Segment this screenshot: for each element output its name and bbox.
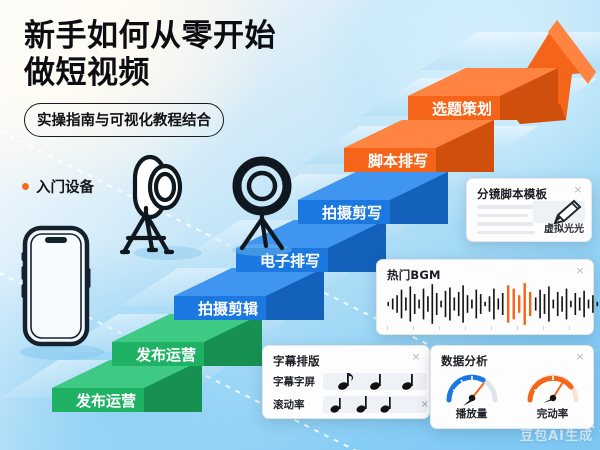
typography-row[interactable]: 字幕字屏 bbox=[273, 370, 427, 392]
gauge-plays[interactable]: 播放量 bbox=[441, 366, 503, 421]
gauge-plays-label: 播放量 bbox=[441, 406, 503, 421]
step-7-label: 选题策划 bbox=[432, 100, 492, 118]
storyboard-template-panel[interactable]: 分镜脚本模板 × 虚拟光光 bbox=[466, 178, 592, 242]
bgm-timeline-ticks bbox=[387, 326, 583, 330]
equipment-label-group: 入门设备 bbox=[22, 176, 94, 197]
music-note-icon bbox=[323, 371, 427, 392]
storyboard-text-lines bbox=[477, 205, 535, 239]
typography-row-2-label: 滚动率 bbox=[273, 397, 317, 412]
bullet-dot-icon bbox=[22, 183, 29, 190]
typography-row[interactable]: 滚动率 × bbox=[273, 393, 427, 415]
equipment-label: 入门设备 bbox=[36, 176, 94, 197]
storyboard-action-label: 虚拟光光 bbox=[544, 220, 584, 235]
bgm-panel[interactable]: 热门BGM × bbox=[376, 259, 594, 335]
step-2-label: 发布运营 bbox=[135, 346, 196, 364]
close-icon[interactable]: × bbox=[573, 185, 583, 195]
typography-row-1-label: 字幕字屏 bbox=[273, 374, 317, 389]
infographic-canvas: 发布运营 发布运营 拍摄剪辑 电子排写 拍摄剪写 脚本排写 选题策划 bbox=[0, 0, 600, 450]
storyboard-panel-title: 分镜脚本模板 bbox=[477, 186, 547, 202]
gauge-dial-icon bbox=[524, 366, 582, 406]
close-icon[interactable]: × bbox=[575, 352, 585, 362]
page-title-line2: 做短视频 bbox=[24, 55, 354, 92]
typography-panel-title: 字幕排版 bbox=[273, 353, 320, 369]
gauge-completion-label: 完动率 bbox=[522, 406, 584, 421]
close-icon[interactable]: × bbox=[411, 352, 421, 362]
step-1-label: 发布运营 bbox=[75, 392, 136, 410]
step-3-label: 拍摄剪辑 bbox=[198, 300, 258, 318]
typography-row-2-control[interactable]: × bbox=[323, 396, 427, 413]
page-title-line1: 新手如何从零开始 bbox=[24, 18, 354, 55]
watermark: 豆包AI生成 bbox=[520, 425, 593, 444]
header-block: 新手如何从零开始 做短视频 实操指南与可视化教程结合 bbox=[24, 18, 354, 137]
typography-panel[interactable]: 字幕排版 × 字幕字屏 滚动率 bbox=[262, 345, 430, 419]
music-note-icon bbox=[323, 394, 427, 415]
ring-light-tripod-illustration bbox=[122, 157, 202, 260]
subtitle-badge: 实操指南与可视化教程结合 bbox=[24, 103, 224, 137]
audio-waveform bbox=[385, 282, 600, 326]
typography-row-2-clear-icon[interactable]: × bbox=[421, 399, 429, 410]
bgm-panel-title: 热门BGM bbox=[387, 267, 441, 283]
close-icon[interactable]: × bbox=[575, 266, 585, 276]
gauge-dial-icon bbox=[443, 366, 501, 406]
analytics-panel[interactable]: 数据分析 × 播放量 bbox=[430, 345, 594, 429]
analytics-gauges: 播放量 完动率 bbox=[431, 366, 593, 421]
step-6-label: 脚本排写 bbox=[368, 152, 428, 170]
typography-row-1-control[interactable] bbox=[323, 373, 427, 390]
gauge-completion[interactable]: 完动率 bbox=[522, 366, 584, 421]
step-5-label: 拍摄剪写 bbox=[322, 204, 382, 222]
